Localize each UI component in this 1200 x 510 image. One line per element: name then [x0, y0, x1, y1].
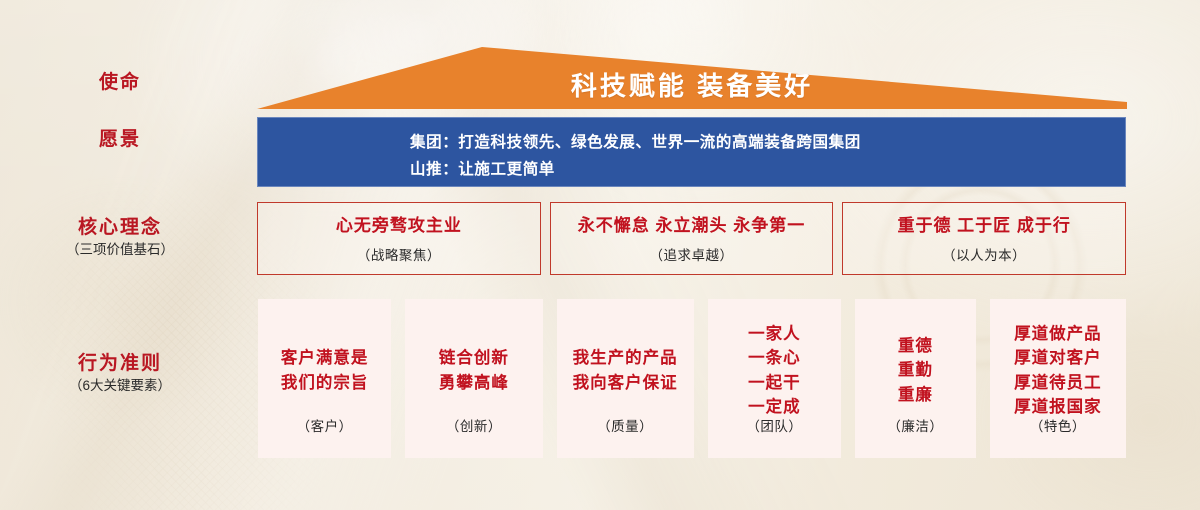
row-label-mission-text: 使命	[10, 71, 230, 95]
core-philosophy-row: 心无旁骛攻主业 （战略聚焦） 永不懈怠 永立潮头 永争第一 （追求卓越） 重于德…	[257, 202, 1126, 275]
conduct-box-tag: （特色）	[990, 415, 1126, 435]
conduct-line: 链合创新	[409, 346, 538, 370]
conduct-line: 厚道待员工	[994, 371, 1122, 395]
culture-poster: 使命 愿景 核心理念 （三项价值基石） 行为准则 （6大关键要素） 科技赋能 装…	[0, 0, 1200, 510]
conduct-box-quality[interactable]: 我生产的产品 我向客户保证 （质量）	[557, 299, 694, 458]
vision-line-shantui: 山推：让施工更简单	[410, 157, 861, 184]
conduct-line: 重勤	[859, 358, 972, 382]
conduct-box-team[interactable]: 一家人 一条心 一起干 一定成 （团队）	[708, 299, 841, 458]
core-philosophy-box-2[interactable]: 永不懈怠 永立潮头 永争第一 （追求卓越）	[550, 202, 834, 275]
core-box-title: 重于德 工于匠 成于行	[897, 215, 1070, 237]
conduct-line: 一条心	[712, 346, 837, 370]
conduct-line: 厚道做产品	[994, 322, 1122, 346]
core-box-title: 心无旁骛攻主业	[336, 215, 462, 237]
core-box-title: 永不懈怠 永立潮头 永争第一	[578, 215, 805, 237]
core-philosophy-box-3[interactable]: 重于德 工于匠 成于行 （以人为本）	[842, 202, 1126, 275]
core-box-subtitle: （以人为本）	[942, 244, 1026, 264]
conduct-line: 我向客户保证	[561, 371, 690, 395]
conduct-line: 重廉	[859, 383, 972, 407]
conduct-box-customer[interactable]: 客户满意是 我们的宗旨 （客户）	[258, 299, 391, 458]
conduct-box-tag: （质量）	[557, 415, 694, 435]
row-label-vision-text: 愿景	[10, 128, 230, 152]
conduct-line: 我们的宗旨	[262, 371, 387, 395]
row-label-conduct-text: 行为准则	[10, 352, 230, 376]
conduct-line: 我生产的产品	[561, 346, 690, 370]
conduct-guideline-row: 客户满意是 我们的宗旨 （客户） 链合创新 勇攀高峰 （创新） 我生产的产品 我…	[258, 299, 1126, 458]
row-label-conduct: 行为准则 （6大关键要素）	[10, 352, 230, 395]
row-label-mission: 使命	[10, 71, 230, 95]
row-label-vision: 愿景	[10, 128, 230, 152]
vision-panel: 集团：打造科技领先、绿色发展、世界一流的高端装备跨国集团 山推：让施工更简单	[257, 117, 1126, 187]
conduct-box-innovation[interactable]: 链合创新 勇攀高峰 （创新）	[405, 299, 542, 458]
core-box-subtitle: （追求卓越）	[650, 244, 734, 264]
conduct-line: 一家人	[712, 322, 837, 346]
conduct-line: 客户满意是	[262, 346, 387, 370]
conduct-box-tag: （廉洁）	[855, 415, 976, 435]
conduct-line: 勇攀高峰	[409, 371, 538, 395]
row-label-core: 核心理念 （三项价值基石）	[10, 216, 230, 259]
mission-statement: 科技赋能 装备美好	[257, 66, 1127, 103]
row-label-conduct-subtext: （6大关键要素）	[10, 378, 230, 395]
conduct-line: 厚道对客户	[994, 346, 1122, 370]
core-box-subtitle: （战略聚焦）	[357, 244, 441, 264]
vision-statement-group: 集团：打造科技领先、绿色发展、世界一流的高端装备跨国集团 山推：让施工更简单	[410, 130, 861, 183]
conduct-line: 一起干	[712, 371, 837, 395]
row-label-core-subtext: （三项价值基石）	[10, 242, 230, 259]
conduct-box-tag: （创新）	[405, 415, 542, 435]
conduct-line: 重德	[859, 334, 972, 358]
conduct-box-character[interactable]: 厚道做产品 厚道对客户 厚道待员工 厚道报国家 （特色）	[990, 299, 1126, 458]
vision-line-group: 集团：打造科技领先、绿色发展、世界一流的高端装备跨国集团	[410, 130, 861, 157]
conduct-box-tag: （团队）	[708, 415, 841, 435]
conduct-box-tag: （客户）	[258, 415, 391, 435]
row-label-core-text: 核心理念	[10, 216, 230, 240]
core-philosophy-box-1[interactable]: 心无旁骛攻主业 （战略聚焦）	[257, 202, 541, 275]
conduct-box-integrity[interactable]: 重德 重勤 重廉 （廉洁）	[855, 299, 976, 458]
